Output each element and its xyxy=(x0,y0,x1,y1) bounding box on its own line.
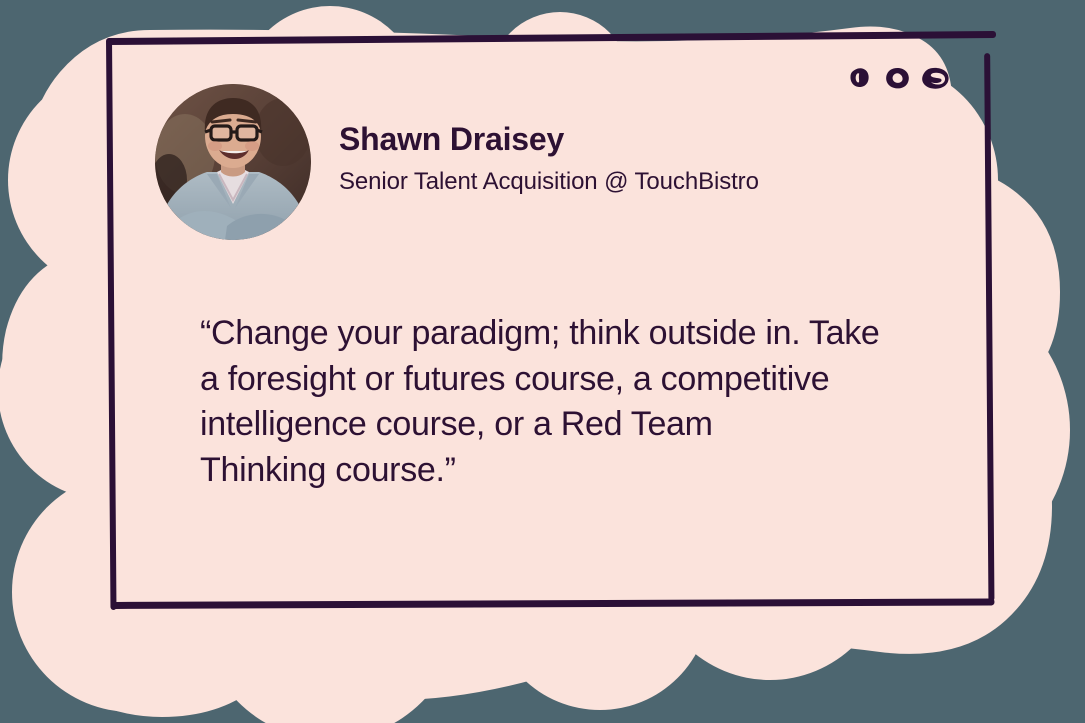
avatar xyxy=(155,84,311,240)
testimonial-content: Shawn Draisey Senior Talent Acquisition … xyxy=(0,0,1085,723)
quote-line: “Change your paradigm; think outside in.… xyxy=(200,311,970,357)
person-text: Shawn Draisey Senior Talent Acquisition … xyxy=(339,120,759,203)
quote-line: Thinking course.” xyxy=(200,448,970,494)
testimonial-quote: “Change your paradigm; think outside in.… xyxy=(200,311,970,493)
testimonial-slide: Shawn Draisey Senior Talent Acquisition … xyxy=(0,0,1085,723)
person-name: Shawn Draisey xyxy=(339,120,759,159)
quote-line: intelligence course, or a Red Team xyxy=(200,402,970,448)
quote-line: a foresight or futures course, a competi… xyxy=(200,357,970,403)
person-role: Senior Talent Acquisition @ TouchBistro xyxy=(339,166,759,197)
person-row: Shawn Draisey Senior Talent Acquisition … xyxy=(155,84,759,240)
